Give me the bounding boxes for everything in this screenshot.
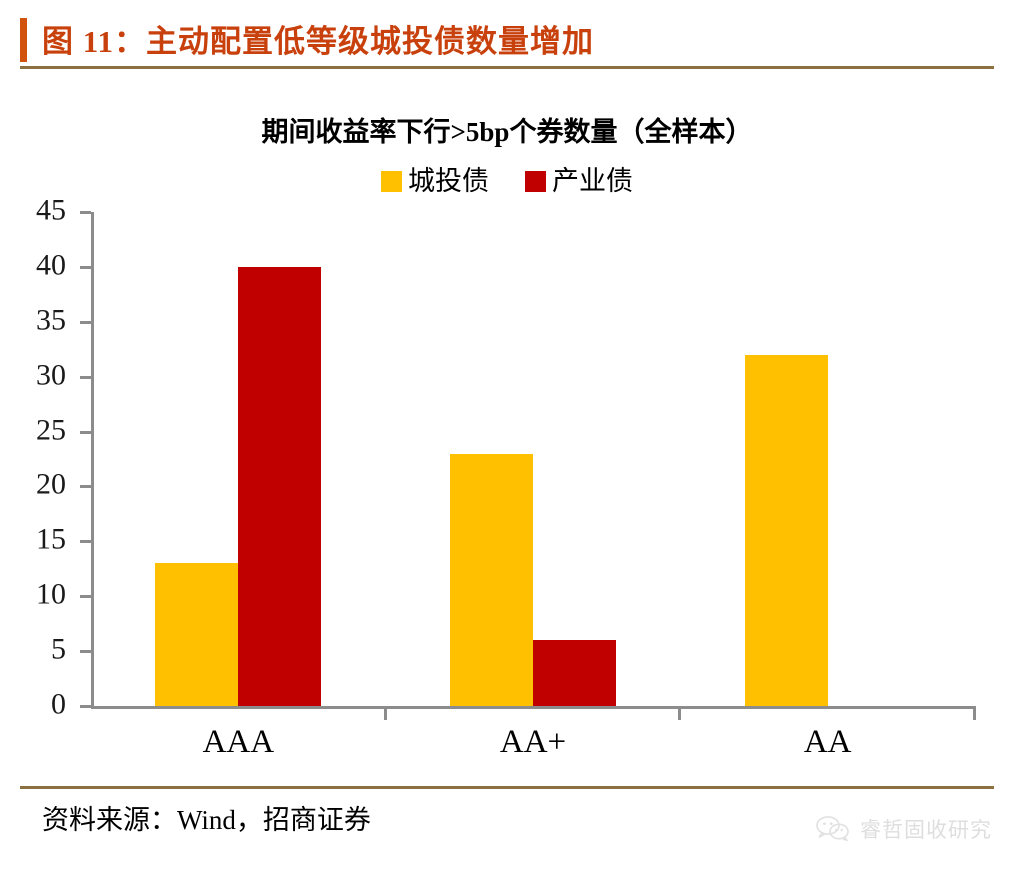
y-axis-tick: 30	[80, 376, 91, 379]
source-note: 资料来源：Wind，招商证券	[42, 798, 371, 837]
bar-aaa-series2[interactable]	[238, 267, 321, 706]
figure-title: 图 11：主动配置低等级城投债数量增加	[42, 16, 594, 61]
watermark: 睿哲固收研究	[816, 814, 992, 844]
x-axis-separator-tick	[973, 706, 976, 720]
y-axis-tick: 0	[80, 705, 91, 708]
y-axis-tick: 15	[80, 540, 91, 543]
header-divider	[20, 66, 994, 69]
chart-legend: 城投债 产业债	[0, 168, 1014, 195]
x-axis-separator-tick	[384, 706, 387, 720]
x-axis-separator-tick	[678, 706, 681, 720]
legend-item-chengtouzhai[interactable]: 城投债	[381, 168, 489, 195]
y-axis-tick: 25	[80, 431, 91, 434]
y-axis-tick: 45	[80, 211, 91, 214]
chart-panel: 期间收益率下行>5bp个券数量（全样本） 城投债 产业债 05101520253…	[0, 76, 1014, 776]
y-axis-line	[91, 212, 94, 706]
x-axis-label-aaplus: AA+	[500, 724, 566, 761]
x-axis-line	[91, 706, 975, 709]
y-axis-tick-label: 35	[36, 303, 66, 337]
bar-aaplus-series1[interactable]	[450, 454, 533, 706]
figure-page: 图 11：主动配置低等级城投债数量增加 期间收益率下行>5bp个券数量（全样本）…	[0, 0, 1014, 872]
figure-header: 图 11：主动配置低等级城投债数量增加	[0, 14, 1014, 70]
wechat-icon	[816, 816, 850, 842]
accent-bar-icon	[20, 18, 27, 62]
bar-aaplus-series2[interactable]	[533, 640, 616, 706]
y-axis-tick-label: 45	[36, 193, 66, 227]
chart-title: 期间收益率下行>5bp个券数量（全样本）	[0, 110, 1014, 149]
legend-label-chengtouzhai: 城投债	[408, 168, 489, 195]
y-axis-tick-label: 5	[51, 632, 66, 666]
y-axis-tick-label: 30	[36, 358, 66, 392]
y-axis-tick: 5	[80, 650, 91, 653]
watermark-text: 睿哲固收研究	[860, 814, 992, 844]
x-axis-label-aaa: AAA	[203, 724, 275, 761]
legend-item-chanyezhai[interactable]: 产业债	[525, 168, 633, 195]
x-axis-label-aa: AA	[804, 724, 852, 761]
legend-swatch-chengtouzhai	[381, 171, 402, 192]
y-axis-tick-label: 15	[36, 523, 66, 557]
y-axis-tick-label: 25	[36, 413, 66, 447]
footer-divider	[20, 786, 994, 789]
plot-area: 051015202530354045 AAAAA+AA	[91, 212, 975, 706]
legend-swatch-chanyezhai	[525, 171, 546, 192]
legend-label-chanyezhai: 产业债	[552, 168, 633, 195]
y-axis-tick: 40	[80, 266, 91, 269]
y-axis-tick: 35	[80, 321, 91, 324]
y-axis-tick-label: 40	[36, 248, 66, 282]
y-axis-tick-label: 0	[51, 687, 66, 721]
bar-aa-series1[interactable]	[745, 355, 828, 706]
bar-aaa-series1[interactable]	[155, 563, 238, 706]
y-axis-tick-label: 10	[36, 578, 66, 612]
y-axis-tick-label: 20	[36, 468, 66, 502]
y-axis-tick: 20	[80, 485, 91, 488]
y-axis-tick: 10	[80, 595, 91, 598]
